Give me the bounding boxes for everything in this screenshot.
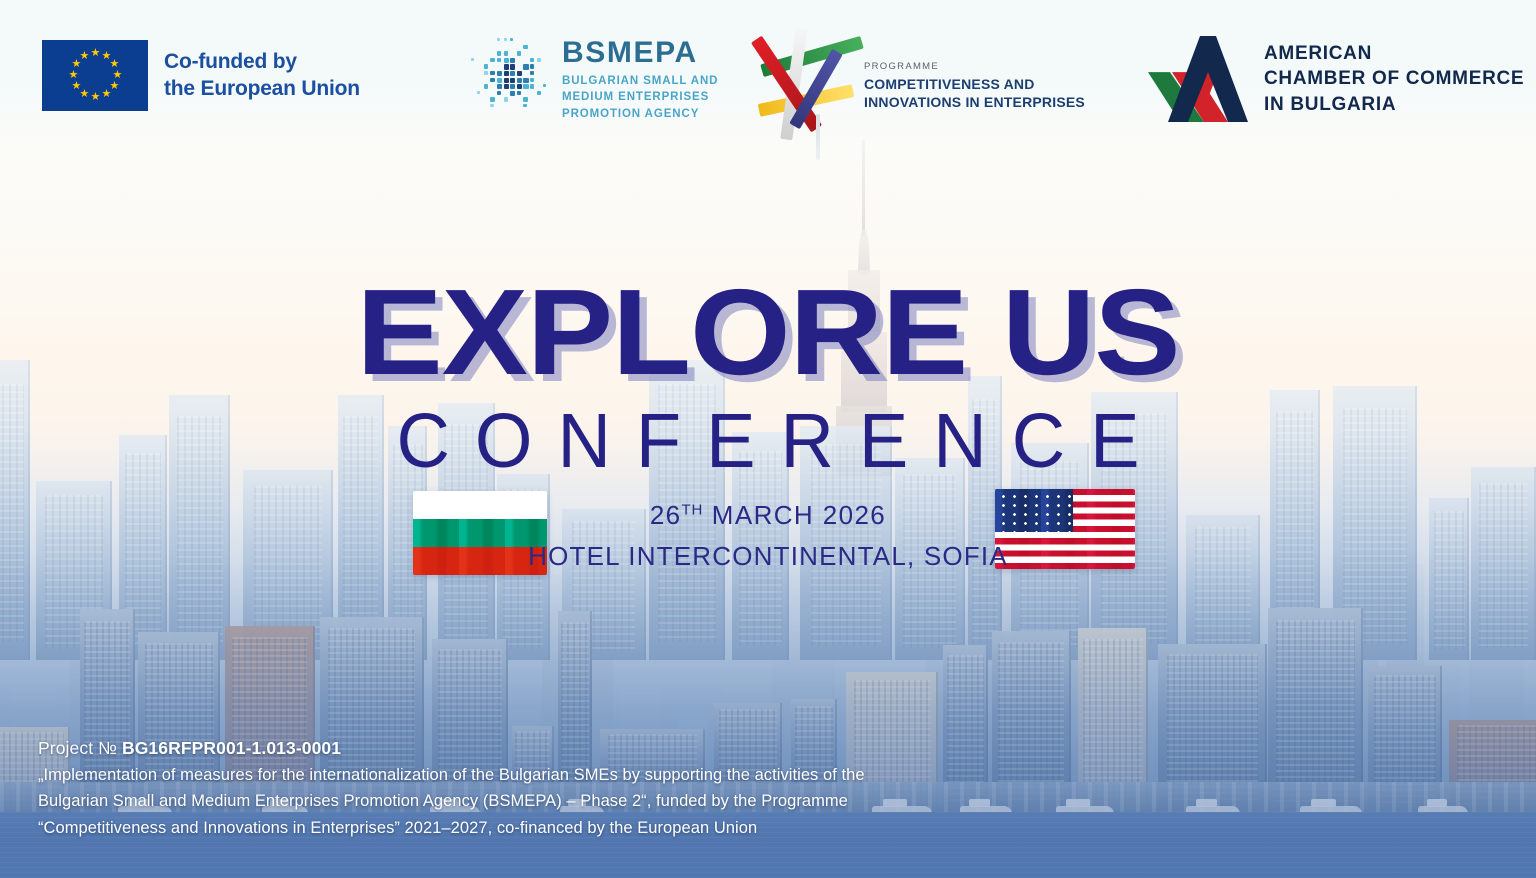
bsmepa-dot	[490, 58, 494, 62]
amcham-bulgaria-logo: AMERICAN CHAMBER OF COMMERCE IN BULGARIA	[1148, 36, 1524, 122]
bsmepa-subtitle-line-3: PROMOTION AGENCY	[562, 106, 718, 122]
bsmepa-agency-logo: BSMEPA BULGARIAN SMALL AND MEDIUM ENTERP…	[462, 36, 718, 124]
bsmepa-dot	[490, 97, 494, 101]
bsmepa-dot	[523, 104, 526, 107]
bsmepa-dot	[510, 71, 515, 76]
bsmepa-dot	[504, 71, 509, 76]
programme-kicker: PROGRAMME	[864, 61, 1085, 72]
event-venue: HOTEL INTERCONTINENTAL, SOFIA	[0, 538, 1536, 575]
bsmepa-dot	[537, 91, 541, 95]
amcham-line-2: CHAMBER OF COMMERCE	[1264, 66, 1524, 91]
bsmepa-dot	[517, 71, 522, 76]
bsmepa-dot	[497, 78, 502, 83]
bsmepa-dot	[510, 84, 515, 89]
amcham-logo-text: AMERICAN CHAMBER OF COMMERCE IN BULGARIA	[1264, 41, 1524, 117]
bsmepa-logo-text: BSMEPA BULGARIAN SMALL AND MEDIUM ENTERP…	[562, 38, 718, 122]
bsmepa-dot	[497, 51, 501, 55]
event-title: EXPLORE US	[0, 276, 1536, 388]
eu-flag-icon: ★★★★★★★★★★★★	[42, 40, 148, 111]
bsmepa-dot	[523, 84, 528, 89]
bsmepa-dot	[484, 84, 488, 88]
bsmepa-dot	[530, 58, 534, 62]
bsmepa-dot	[497, 71, 502, 76]
bsmepa-dot	[497, 91, 501, 95]
event-subtitle: CONFERENCE	[0, 397, 1536, 485]
programme-pole	[816, 114, 820, 160]
bsmepa-dot	[530, 64, 534, 68]
bsmepa-dot	[504, 51, 508, 55]
programme-title: COMPETITIVENESS AND INNOVATIONS IN ENTER…	[864, 75, 1085, 112]
bsmepa-dot	[477, 91, 480, 94]
project-number-line: Project № BG16RFPR001-1.013-0001	[38, 735, 865, 762]
eu-star-icon: ★	[80, 52, 89, 61]
bsmepa-dot	[504, 97, 508, 101]
bsmepa-dot	[504, 78, 509, 83]
project-number-label: Project №	[38, 738, 122, 758]
bsmepa-dot	[504, 64, 509, 69]
bsmepa-dot	[510, 38, 513, 41]
bsmepa-dot	[497, 38, 500, 41]
bsmepa-dot	[490, 104, 493, 107]
bsmepa-dot	[517, 91, 521, 95]
bsmepa-dot	[497, 84, 502, 89]
bsmepa-dot	[523, 97, 527, 101]
eu-logo-line-2: the European Union	[164, 76, 360, 102]
eu-logo-line-1: Co-funded by	[164, 49, 360, 75]
event-date-day: 26	[650, 500, 682, 530]
project-disclaimer-block: Project № BG16RFPR001-1.013-0001 „Implem…	[38, 735, 865, 842]
amcham-line-3: IN BULGARIA	[1264, 92, 1524, 117]
bsmepa-dot	[504, 84, 509, 89]
bsmepa-dot	[517, 51, 521, 55]
project-description-line-2: Bulgarian Small and Medium Enterprises P…	[38, 788, 865, 815]
event-details-block: 26TH MARCH 2026 HOTEL INTERCONTINENTAL, …	[0, 497, 1536, 575]
bsmepa-dot	[523, 64, 528, 69]
bsmepa-dot	[517, 84, 522, 89]
bsmepa-dot	[530, 84, 534, 88]
bsmepa-dot	[490, 71, 494, 75]
bsmepa-subtitle-line-1: BULGARIAN SMALL AND	[562, 73, 718, 89]
bsmepa-dot	[504, 38, 507, 41]
programme-logo-text: PROGRAMME COMPETITIVENESS AND INNOVATION…	[864, 61, 1085, 112]
eu-star-icon: ★	[110, 60, 119, 69]
event-date-ordinal: TH	[682, 501, 704, 518]
eu-star-icon: ★	[91, 49, 100, 58]
hero-title-block: EXPLORE US CONFERENCE	[0, 276, 1536, 483]
eu-star-icon: ★	[113, 71, 122, 80]
bsmepa-dot	[530, 78, 534, 82]
bsmepa-subtitle: BULGARIAN SMALL AND MEDIUM ENTERPRISES P…	[562, 73, 718, 122]
project-number-value: BG16RFPR001-1.013-0001	[122, 738, 341, 758]
project-description-line-1: „Implementation of measures for the inte…	[38, 762, 865, 789]
bsmepa-dot	[510, 78, 515, 83]
bsmepa-acronym: BSMEPA	[562, 38, 718, 68]
event-date-month-year: MARCH 2026	[703, 500, 886, 530]
bsmepa-dot	[497, 58, 501, 62]
bsmepa-dot	[537, 58, 541, 62]
bsmepa-dot	[510, 58, 515, 63]
event-date: 26TH MARCH 2026	[0, 497, 1536, 534]
bsmepa-dot	[471, 58, 474, 61]
bsmepa-dot	[543, 84, 546, 87]
eu-star-icon: ★	[102, 90, 111, 99]
bsmepa-dot	[517, 78, 522, 83]
conference-banner: ★★★★★★★★★★★★ Co-funded by the European U…	[0, 0, 1536, 878]
bsmepa-dot	[523, 78, 528, 83]
esb-mast	[862, 140, 865, 236]
bsmepa-dot	[510, 91, 515, 96]
eu-star-icon: ★	[91, 93, 100, 102]
project-description-line-3: “Competitiveness and Innovations in Ente…	[38, 815, 865, 842]
eu-star-icon: ★	[71, 82, 80, 91]
bsmepa-dot	[484, 64, 488, 68]
programme-title-line-2: INNOVATIONS IN ENTERPRISES	[864, 93, 1085, 111]
programme-ribbon-icon	[766, 34, 858, 138]
bsmepa-dot	[490, 78, 494, 82]
eu-logo-text: Co-funded by the European Union	[164, 49, 360, 102]
bsmepa-dot	[523, 45, 527, 49]
bsmepa-dot	[530, 71, 534, 75]
bsmepa-dot	[484, 71, 488, 75]
bsmepa-subtitle-line-2: MEDIUM ENTERPRISES	[562, 89, 718, 105]
eu-cofunded-logo: ★★★★★★★★★★★★ Co-funded by the European U…	[42, 40, 360, 111]
programme-title-line-1: COMPETITIVENESS AND	[864, 75, 1085, 93]
amcham-chevron-icon	[1148, 36, 1248, 122]
bsmepa-dot-matrix-icon	[462, 36, 548, 124]
sponsor-logo-bar: ★★★★★★★★★★★★ Co-funded by the European U…	[0, 0, 1536, 140]
eu-star-icon: ★	[69, 71, 78, 80]
programme-logo: PROGRAMME COMPETITIVENESS AND INNOVATION…	[766, 34, 1085, 138]
bsmepa-dot	[504, 58, 509, 63]
amcham-line-1: AMERICAN	[1264, 41, 1524, 66]
bsmepa-dot	[510, 64, 515, 69]
